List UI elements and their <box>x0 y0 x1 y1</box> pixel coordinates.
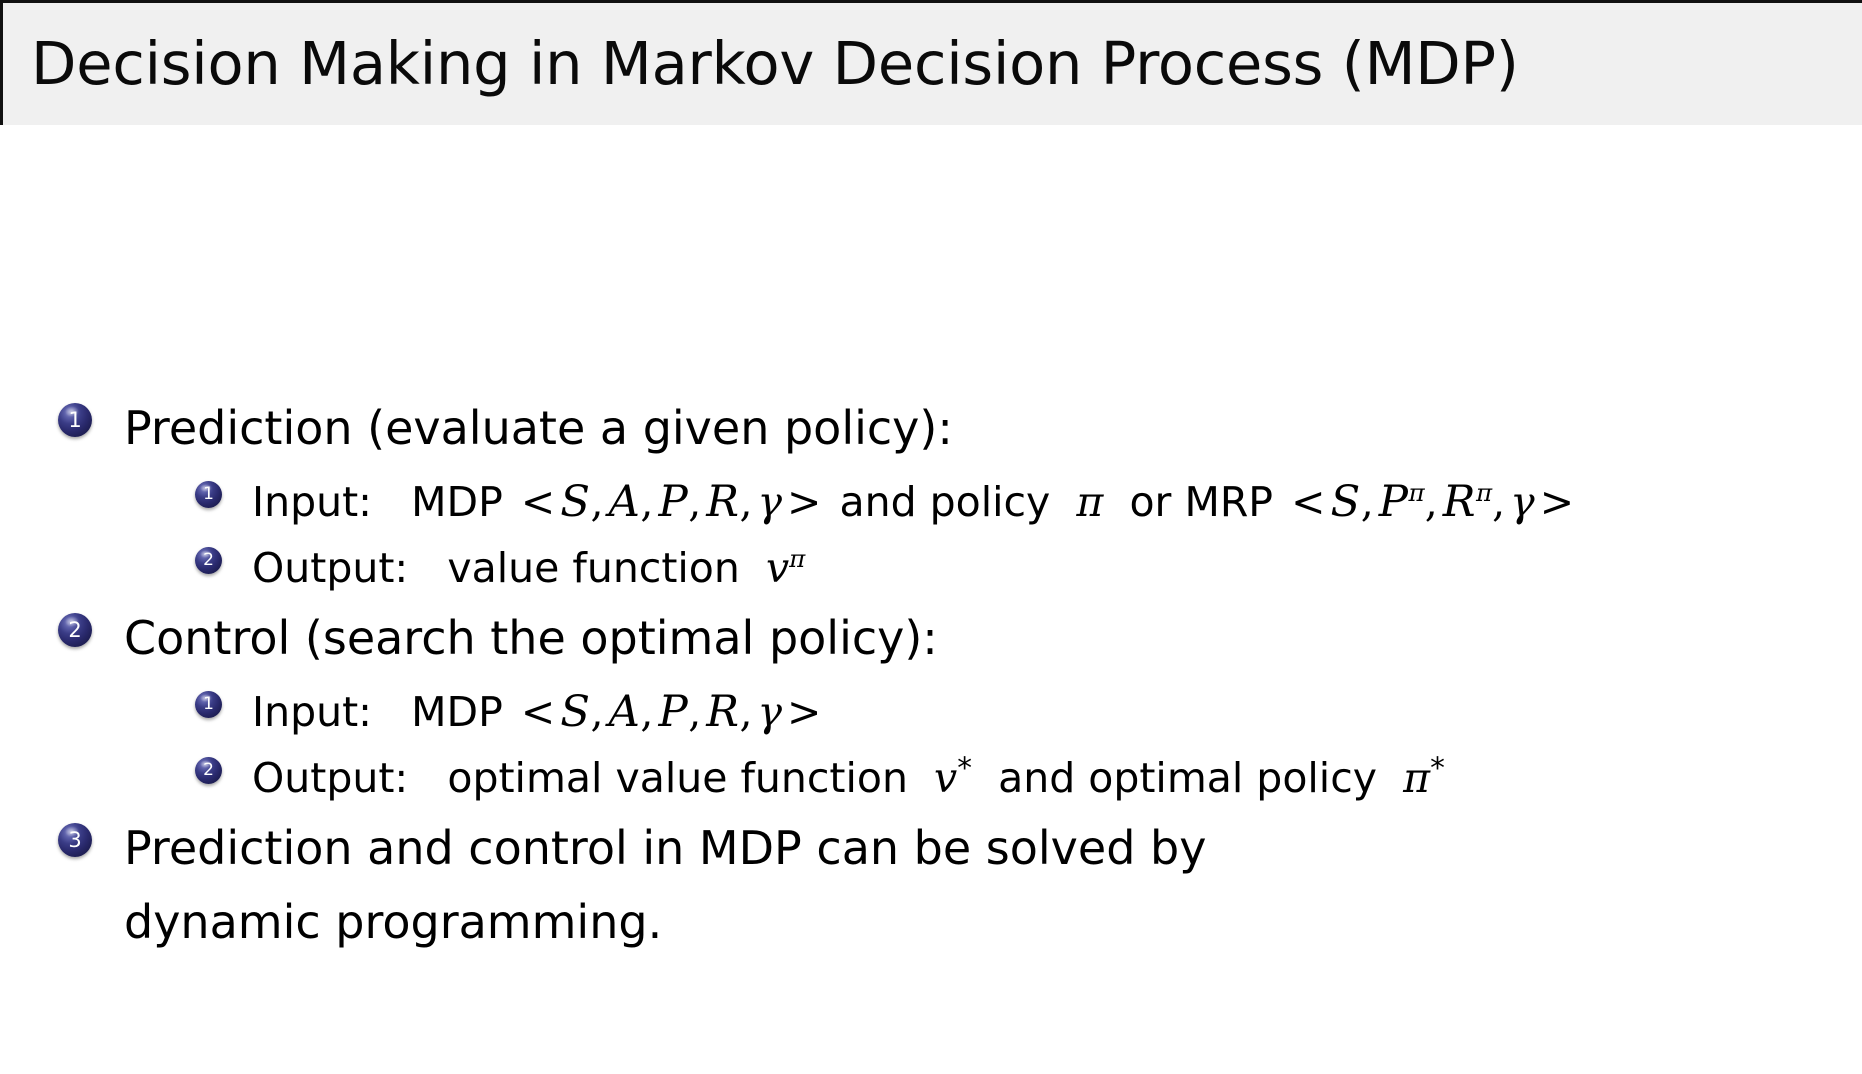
page-title: Decision Making in Markov Decision Proce… <box>31 33 1519 95</box>
math-symbol-gamma: γ <box>758 688 783 736</box>
outline-item-3-label: Prediction and control in MDP can be sol… <box>124 811 1314 959</box>
outline-subitem-2-2-label: Output: optimal value function v* and op… <box>252 745 1862 811</box>
outline-subitem-1-2: 2 Output: value function vπ <box>0 535 1862 601</box>
slide-body: 1 Prediction (evaluate a given policy): … <box>0 125 1862 1074</box>
math-symbol-R: R <box>706 477 739 527</box>
subitem-body: MDP <box>411 478 503 526</box>
math-symbol-P: P <box>658 687 688 737</box>
math-symbol-pi: π <box>1403 754 1430 802</box>
math2-symbol-P: P <box>1379 477 1409 527</box>
outline-subitem-1-1: 1 Input: MDP <S,A,P,R,γ> and policy π or… <box>0 469 1862 535</box>
outline-subitem-1-2-label: Output: value function vπ <box>252 535 1862 601</box>
math-symbol-P: P <box>658 477 688 527</box>
math-open-angle: < <box>516 478 560 526</box>
subitem-middle: and policy <box>839 478 1050 526</box>
outline-item-2: 2 Control (search the optimal policy): <box>0 601 1862 675</box>
math-symbol-v: v <box>934 754 957 802</box>
math-close-angle: > <box>782 478 826 526</box>
math-symbol-gamma: γ <box>758 478 783 526</box>
outline-sublist-1: 1 Input: MDP <S,A,P,R,γ> and policy π or… <box>0 469 1862 601</box>
badge-wrap: 2 <box>58 601 124 647</box>
outline-subitem-1-1-label: Input: MDP <S,A,P,R,γ> and policy π or M… <box>252 469 1862 535</box>
math-symbol-pi: π <box>1076 478 1103 526</box>
math-open-angle: < <box>516 688 560 736</box>
outline-subitem-2-1-label: Input: MDP <S,A,P,R,γ> <box>252 679 1862 745</box>
badge-wrap: 1 <box>58 391 124 437</box>
math2-symbol-gamma: γ <box>1510 478 1535 526</box>
outline-item-2-label: Control (search the optimal policy): <box>124 601 1862 675</box>
math-symbol-A: A <box>609 687 641 737</box>
outline-item-3: 3 Prediction and control in MDP can be s… <box>0 811 1862 959</box>
math2-close-angle: > <box>1535 478 1579 526</box>
slide-title-bar: Decision Making in Markov Decision Proce… <box>0 0 1862 125</box>
numbered-badge-icon: 2 <box>58 613 92 647</box>
badge-wrap: 3 <box>58 811 124 857</box>
numbered-badge-icon: 2 <box>195 757 222 784</box>
math-symbol-v: v <box>766 544 789 592</box>
outline-item-1: 1 Prediction (evaluate a given policy): <box>0 391 1862 465</box>
outline-sublist-2: 1 Input: MDP <S,A,P,R,γ> 2 <box>0 679 1862 811</box>
subitem-body: MDP <box>411 688 503 736</box>
math2-symbol-R: R <box>1443 477 1476 527</box>
badge-wrap: 1 <box>195 679 252 718</box>
slide: Decision Making in Markov Decision Proce… <box>0 0 1862 1074</box>
subitem-body: optimal value function <box>447 754 908 802</box>
numbered-badge-icon: 3 <box>58 823 92 857</box>
math-symbol-A: A <box>609 477 641 527</box>
math2-symbol-S: S <box>1330 477 1360 527</box>
numbered-badge-icon: 1 <box>195 481 222 508</box>
badge-wrap: 2 <box>195 535 252 574</box>
math2-superscript-pi-2: π <box>1476 478 1492 507</box>
math-superscript-pi: π <box>789 544 805 573</box>
outline-subitem-2-2: 2 Output: optimal value function v* and … <box>0 745 1862 811</box>
badge-wrap: 2 <box>195 745 252 784</box>
subitem-prefix: Output: <box>252 544 408 592</box>
math-superscript-star-2: * <box>1430 751 1445 785</box>
subitem-prefix: Input: <box>252 478 372 526</box>
outline-subitem-2-1: 1 Input: MDP <S,A,P,R,γ> <box>0 679 1862 745</box>
math-symbol-S: S <box>560 687 590 737</box>
math2-superscript-pi: π <box>1409 478 1425 507</box>
outline-list: 1 Prediction (evaluate a given policy): … <box>0 391 1862 963</box>
math-symbol-S: S <box>560 477 590 527</box>
outline-item-1-label: Prediction (evaluate a given policy): <box>124 391 1862 465</box>
math-superscript-star: * <box>957 751 972 785</box>
subitem-prefix: Output: <box>252 754 408 802</box>
math-symbol-R: R <box>706 687 739 737</box>
numbered-badge-icon: 1 <box>58 403 92 437</box>
badge-wrap: 1 <box>195 469 252 508</box>
subitem-prefix: Input: <box>252 688 372 736</box>
math2-open-angle: < <box>1286 478 1330 526</box>
numbered-badge-icon: 1 <box>195 691 222 718</box>
subitem-body: value function <box>447 544 740 592</box>
subitem-middle2: or MRP <box>1129 478 1273 526</box>
subitem-middle: and optimal policy <box>998 754 1377 802</box>
numbered-badge-icon: 2 <box>195 547 222 574</box>
math-close-angle: > <box>782 688 826 736</box>
